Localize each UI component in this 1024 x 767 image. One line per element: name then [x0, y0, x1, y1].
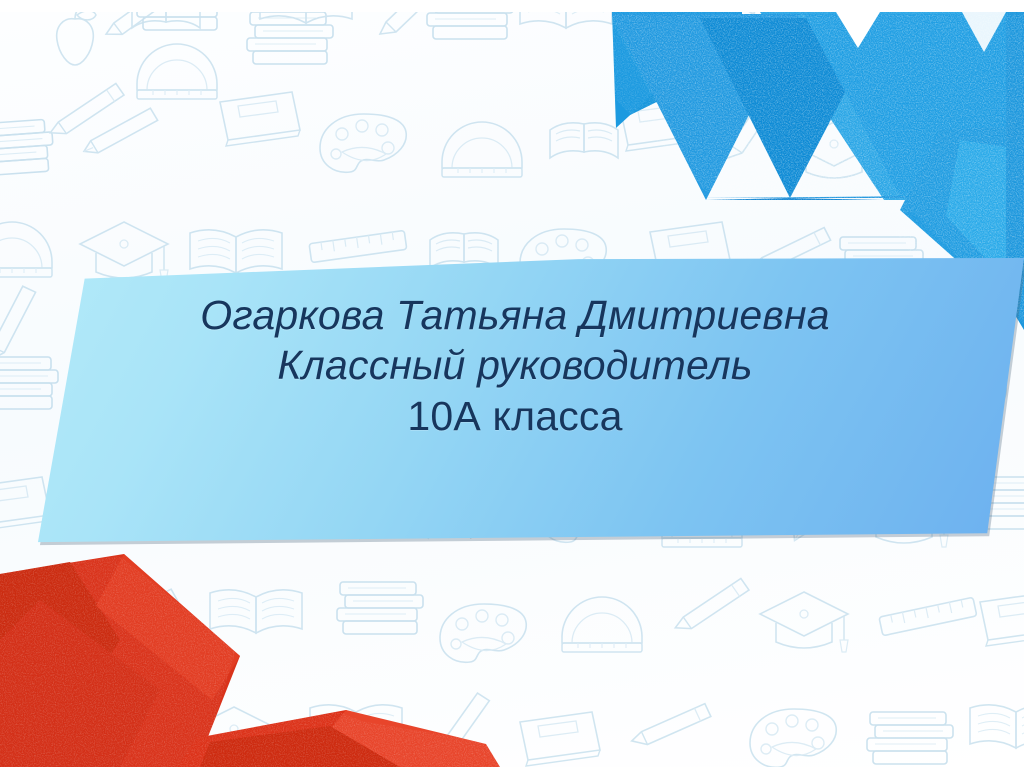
title-line-teacher-name: Огаркова Татьяна Дмитриевна	[40, 290, 990, 340]
title-line-role: Классный руководитель	[40, 340, 990, 390]
slide-title-block: Огаркова Татьяна Дмитриевна Классный рук…	[40, 290, 990, 441]
title-line-class: 10А класса	[40, 391, 990, 441]
presentation-slide: Огаркова Татьяна Дмитриевна Классный рук…	[0, 0, 1024, 767]
slide-top-margin	[0, 0, 1024, 12]
